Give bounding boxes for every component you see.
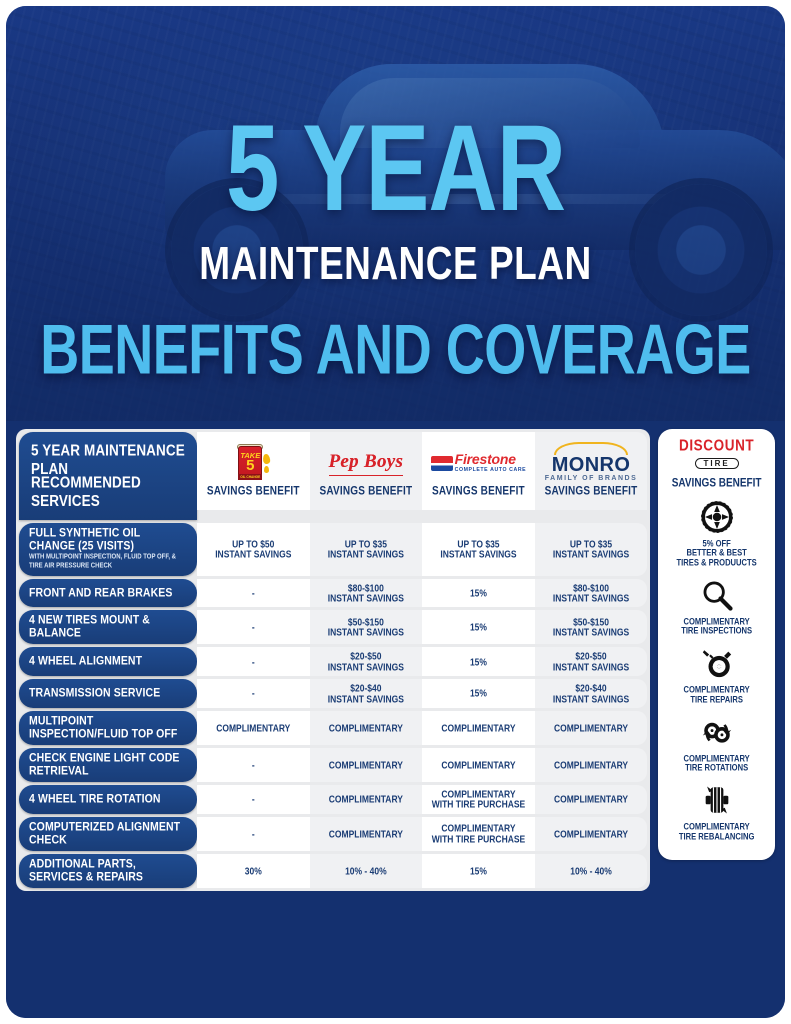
cell-value: 30% xyxy=(245,865,262,877)
table-cell: $80-$100INSTANT SAVINGS xyxy=(535,579,648,608)
table-cell: 15% xyxy=(422,647,535,676)
table-cell: $20-$50INSTANT SAVINGS xyxy=(535,647,648,676)
discount-tire-item-text: COMPLIMENTARYTIRE ROTATIONS xyxy=(664,754,769,773)
cell-value: 10% - 40% xyxy=(345,865,387,877)
discount-tire-item-text: COMPLIMENTARYTIRE REBALANCING xyxy=(664,822,769,841)
cell-subvalue: INSTANT SAVINGS xyxy=(328,548,404,560)
table-cell: - xyxy=(197,748,310,782)
discount-tire-panel: DISCOUNT TIRE SAVINGS BENEFIT 5% OFFBETT… xyxy=(658,429,775,860)
table-cell: COMPLIMENTARY xyxy=(535,817,648,851)
cell-subvalue: INSTANT SAVINGS xyxy=(328,592,404,604)
cell-subvalue: INSTANT SAVINGS xyxy=(328,627,404,639)
row-label: 4 WHEEL ALIGNMENT xyxy=(19,647,197,676)
cell-value: COMPLIMENTARY xyxy=(329,722,403,734)
row-label: CHECK ENGINE LIGHT CODE RETRIEVAL xyxy=(19,748,197,782)
table-row: TRANSMISSION SERVICE-$20-$40INSTANT SAVI… xyxy=(19,679,647,708)
brand-column-pepboys: Pep Boys SAVINGS BENEFIT xyxy=(310,432,423,510)
take5-logo-band: OIL CHANGE xyxy=(238,474,262,480)
table-cell: COMPLIMENTARY xyxy=(422,748,535,782)
row-label: COMPUTERIZED ALIGNMENT CHECK xyxy=(19,817,197,851)
cell-value: - xyxy=(252,656,255,668)
flyer-frame: 5 YEAR MAINTENANCE PLAN BENEFITS AND COV… xyxy=(6,6,785,1018)
row-label-main: 4 NEW TIRES MOUNT & BALANCE xyxy=(29,614,187,640)
table-cell: - xyxy=(197,610,310,644)
hero-title-year: 5 YEAR xyxy=(6,110,785,227)
header-label-line2: RECOMMENDED SERVICES xyxy=(31,473,185,511)
cell-subvalue: INSTANT SAVINGS xyxy=(553,592,629,604)
take5-logo-icon: TAKE 5 OIL CHANGE xyxy=(236,444,270,482)
table-row: 4 NEW TIRES MOUNT & BALANCE-$50-$150INST… xyxy=(19,610,647,644)
cell-value: 15% xyxy=(470,587,487,599)
table-cell: 30% xyxy=(197,854,310,888)
discount-tire-item-line: TIRE REBALANCING xyxy=(664,831,769,842)
cell-value: - xyxy=(252,587,255,599)
cell-subvalue: INSTANT SAVINGS xyxy=(553,548,629,560)
table-cell: 10% - 40% xyxy=(535,854,648,888)
magnifier-icon xyxy=(664,575,769,615)
cell-subvalue: INSTANT SAVINGS xyxy=(553,693,629,705)
table-cell: $20-$40INSTANT SAVINGS xyxy=(535,679,648,708)
cell-value: - xyxy=(252,622,255,634)
savings-benefit-pepboys: SAVINGS BENEFIT xyxy=(319,486,412,498)
row-label: MULTIPOINT INSPECTION/FLUID TOP OFF xyxy=(19,711,197,745)
table-cell: COMPLIMENTARY xyxy=(422,711,535,745)
table-cell: $20-$40INSTANT SAVINGS xyxy=(310,679,423,708)
cell-value: COMPLIMENTARY xyxy=(441,722,515,734)
cell-value: 15% xyxy=(470,688,487,700)
discount-tire-item-line: TIRE REPAIRS xyxy=(664,694,769,705)
discount-tire-item-line: TIRE INSPECTIONS xyxy=(664,626,769,637)
table-cell: $20-$50INSTANT SAVINGS xyxy=(310,647,423,676)
table-cell: $80-$100INSTANT SAVINGS xyxy=(310,579,423,608)
cell-value: COMPLIMENTARY xyxy=(216,722,290,734)
discount-tire-items: 5% OFFBETTER & BESTTIRES & PRODUUCTSCOMP… xyxy=(664,497,769,842)
tire-repair-icon xyxy=(664,643,769,683)
monro-logo-text: MONRO xyxy=(545,456,637,474)
table-cell: 15% xyxy=(422,579,535,608)
table-cell: COMPLIMENTARY xyxy=(310,748,423,782)
table-row: ADDITIONAL PARTS, SERVICES & REPAIRS30%1… xyxy=(19,854,647,888)
cell-value: COMPLIMENTARY xyxy=(329,828,403,840)
discount-tire-item-line: TIRES & PRODUUCTS xyxy=(664,557,769,568)
row-label-main: FULL SYNTHETIC OIL CHANGE (25 VISITS) xyxy=(29,527,187,553)
cell-value: 15% xyxy=(470,656,487,668)
discount-tire-logo-sub: TIRE xyxy=(695,458,739,469)
hero-banner: 5 YEAR MAINTENANCE PLAN BENEFITS AND COV… xyxy=(6,6,785,421)
row-label: FULL SYNTHETIC OIL CHANGE (25 VISITS)WIT… xyxy=(19,523,197,576)
brand-column-take5: TAKE 5 OIL CHANGE SAVINGS BENEFIT xyxy=(197,432,310,510)
table-row: 4 WHEEL TIRE ROTATION-COMPLIMENTARYCOMPL… xyxy=(19,785,647,814)
discount-tire-item-line: TIRE ROTATIONS xyxy=(664,762,769,773)
table-cell: COMPLIMENTARY xyxy=(535,785,648,814)
table-row: MULTIPOINT INSPECTION/FLUID TOP OFFCOMPL… xyxy=(19,711,647,745)
table-cell: COMPLIMENTARY xyxy=(310,785,423,814)
table-row: COMPUTERIZED ALIGNMENT CHECK-COMPLIMENTA… xyxy=(19,817,647,851)
table-cell: COMPLIMENTARY xyxy=(310,711,423,745)
cell-value: COMPLIMENTARY xyxy=(329,759,403,771)
cell-value: 15% xyxy=(470,865,487,877)
benefits-table: 5 YEAR MAINTENANCE PLAN RECOMMENDED SERV… xyxy=(16,429,650,891)
cell-value: COMPLIMENTARY xyxy=(329,793,403,805)
row-label-sub: WITH MULTIPOINT INSPECTION, FLUID TOP OF… xyxy=(29,554,187,571)
row-label-main: TRANSMISSION SERVICE xyxy=(29,687,187,700)
cell-subvalue: INSTANT SAVINGS xyxy=(553,661,629,673)
table-row: 4 WHEEL ALIGNMENT-$20-$50INSTANT SAVINGS… xyxy=(19,647,647,676)
cell-value: - xyxy=(252,688,255,700)
row-label-main: 4 WHEEL ALIGNMENT xyxy=(29,655,187,668)
table-cell: - xyxy=(197,679,310,708)
row-label-main: 4 WHEEL TIRE ROTATION xyxy=(29,793,187,806)
discount-tire-item-text: COMPLIMENTARYTIRE REPAIRS xyxy=(664,685,769,704)
tire-wheel-icon xyxy=(664,497,769,537)
row-label: FRONT AND REAR BRAKES xyxy=(19,579,197,608)
take5-logo-num: 5 xyxy=(239,458,261,473)
table-row: CHECK ENGINE LIGHT CODE RETRIEVAL-COMPLI… xyxy=(19,748,647,782)
cell-value: - xyxy=(252,793,255,805)
table-cell: 10% - 40% xyxy=(310,854,423,888)
row-label-main: FRONT AND REAR BRAKES xyxy=(29,587,187,600)
cell-subvalue: WITH TIRE PURCHASE xyxy=(432,833,526,845)
table-cell: COMPLIMENTARY xyxy=(197,711,310,745)
discount-tire-item-text: 5% OFFBETTER & BESTTIRES & PRODUUCTS xyxy=(664,539,769,568)
table-cell: UP TO $35INSTANT SAVINGS xyxy=(535,523,648,576)
cell-value: COMPLIMENTARY xyxy=(554,722,628,734)
brand-column-firestone: Firestone COMPLETE AUTO CARE SAVINGS BEN… xyxy=(422,432,535,510)
cell-subvalue: WITH TIRE PURCHASE xyxy=(432,799,526,811)
cell-value: COMPLIMENTARY xyxy=(554,793,628,805)
pepboys-logo-text: Pep Boys xyxy=(329,450,404,475)
cell-value: 10% - 40% xyxy=(570,865,612,877)
firestone-logo-text: Firestone xyxy=(455,452,527,466)
monro-logo-sub: FAMILY OF BRANDS xyxy=(545,475,637,484)
table-cell: COMPLIMENTARY xyxy=(310,817,423,851)
discount-tire-item-text: COMPLIMENTARYTIRE INSPECTIONS xyxy=(664,617,769,636)
row-label-main: COMPUTERIZED ALIGNMENT CHECK xyxy=(29,821,187,847)
table-row: FULL SYNTHETIC OIL CHANGE (25 VISITS)WIT… xyxy=(19,523,647,576)
table-cell: - xyxy=(197,817,310,851)
row-label-main: ADDITIONAL PARTS, SERVICES & REPAIRS xyxy=(29,858,187,884)
row-label-main: MULTIPOINT INSPECTION/FLUID TOP OFF xyxy=(29,715,187,741)
table-cell: 15% xyxy=(422,610,535,644)
table-header-label: 5 YEAR MAINTENANCE PLAN RECOMMENDED SERV… xyxy=(19,432,197,520)
row-label-main: CHECK ENGINE LIGHT CODE RETRIEVAL xyxy=(29,752,187,778)
discount-tire-item: 5% OFFBETTER & BESTTIRES & PRODUUCTS xyxy=(664,497,769,568)
discount-tire-item: COMPLIMENTARYTIRE ROTATIONS xyxy=(664,712,769,773)
table-cell: COMPLIMENTARYWITH TIRE PURCHASE xyxy=(422,817,535,851)
comparison-board: 5 YEAR MAINTENANCE PLAN RECOMMENDED SERV… xyxy=(6,421,785,1018)
flyer-page: 5 YEAR MAINTENANCE PLAN BENEFITS AND COV… xyxy=(0,0,791,1024)
cell-value: - xyxy=(252,828,255,840)
table-cell: UP TO $35INSTANT SAVINGS xyxy=(422,523,535,576)
discount-tire-savings-label: SAVINGS BENEFIT xyxy=(664,478,769,489)
tire-rotation-icon xyxy=(664,712,769,752)
row-label: 4 WHEEL TIRE ROTATION xyxy=(19,785,197,814)
table-cell: 15% xyxy=(422,854,535,888)
discount-tire-item: COMPLIMENTARYTIRE REPAIRS xyxy=(664,643,769,704)
cell-subvalue: INSTANT SAVINGS xyxy=(553,627,629,639)
table-cell: $50-$150INSTANT SAVINGS xyxy=(310,610,423,644)
table-row: FRONT AND REAR BRAKES-$80-$100INSTANT SA… xyxy=(19,579,647,608)
savings-benefit-monro: SAVINGS BENEFIT xyxy=(545,486,638,498)
hero-subtitle-plan: MAINTENANCE PLAN xyxy=(6,238,785,290)
table-cell: $50-$150INSTANT SAVINGS xyxy=(535,610,648,644)
table-cell: COMPLIMENTARY xyxy=(535,748,648,782)
discount-tire-item: COMPLIMENTARYTIRE REBALANCING xyxy=(664,780,769,841)
discount-tire-logo-icon: DISCOUNT TIRE xyxy=(664,439,769,471)
cell-subvalue: INSTANT SAVINGS xyxy=(440,548,516,560)
table-cell: - xyxy=(197,579,310,608)
cell-value: 15% xyxy=(470,622,487,634)
table-cell: - xyxy=(197,785,310,814)
brand-column-monro: MONRO FAMILY OF BRANDS SAVINGS BENEFIT xyxy=(535,432,648,510)
firestone-logo-icon: Firestone COMPLETE AUTO CARE xyxy=(431,444,527,482)
table-grid: 5 YEAR MAINTENANCE PLAN RECOMMENDED SERV… xyxy=(19,432,647,888)
savings-benefit-firestone: SAVINGS BENEFIT xyxy=(432,486,525,498)
cell-value: COMPLIMENTARY xyxy=(441,759,515,771)
cell-subvalue: INSTANT SAVINGS xyxy=(328,661,404,673)
table-body: FULL SYNTHETIC OIL CHANGE (25 VISITS)WIT… xyxy=(19,523,647,888)
row-label: TRANSMISSION SERVICE xyxy=(19,679,197,708)
table-cell: 15% xyxy=(422,679,535,708)
table-cell: UP TO $35INSTANT SAVINGS xyxy=(310,523,423,576)
cell-subvalue: INSTANT SAVINGS xyxy=(215,548,291,560)
table-header-row: 5 YEAR MAINTENANCE PLAN RECOMMENDED SERV… xyxy=(19,432,647,520)
row-label: ADDITIONAL PARTS, SERVICES & REPAIRS xyxy=(19,854,197,888)
cell-value: - xyxy=(252,759,255,771)
cell-value: COMPLIMENTARY xyxy=(554,828,628,840)
table-cell: - xyxy=(197,647,310,676)
table-cell: COMPLIMENTARY xyxy=(535,711,648,745)
monro-logo-icon: MONRO FAMILY OF BRANDS xyxy=(545,444,637,482)
table-cell: UP TO $50INSTANT SAVINGS xyxy=(197,523,310,576)
cell-subvalue: INSTANT SAVINGS xyxy=(328,693,404,705)
firestone-logo-sub: COMPLETE AUTO CARE xyxy=(455,467,527,473)
table-cell: COMPLIMENTARYWITH TIRE PURCHASE xyxy=(422,785,535,814)
savings-benefit-take5: SAVINGS BENEFIT xyxy=(207,486,300,498)
cell-value: COMPLIMENTARY xyxy=(554,759,628,771)
hero-title-benefits: BENEFITS AND COVERAGE xyxy=(6,310,785,391)
discount-tire-logo-main: DISCOUNT xyxy=(664,438,769,454)
row-label: 4 NEW TIRES MOUNT & BALANCE xyxy=(19,610,197,644)
discount-tire-item: COMPLIMENTARYTIRE INSPECTIONS xyxy=(664,575,769,636)
tire-balance-icon xyxy=(664,780,769,820)
pepboys-logo-icon: Pep Boys xyxy=(329,444,404,482)
